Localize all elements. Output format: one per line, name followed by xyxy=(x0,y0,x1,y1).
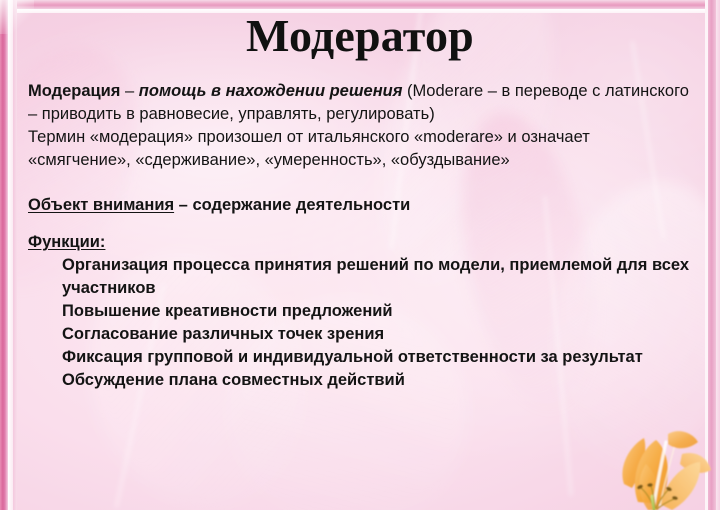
slide-border-left xyxy=(0,0,8,510)
heading-functions-label: Функции: xyxy=(28,233,105,251)
definition-paragraph: Модерация – помощь в нахождении решения … xyxy=(28,80,694,126)
slide-border-left-inner xyxy=(13,0,17,510)
slide-title: Модератор xyxy=(0,12,720,60)
list-item: Повышение креативности предложений xyxy=(62,300,694,323)
definition-gloss: помощь в нахождении решения xyxy=(139,82,403,100)
spacer xyxy=(28,217,694,231)
definition-term: Модерация xyxy=(28,82,120,100)
presentation-slide: Модератор Модерация – помощь в нахождени… xyxy=(0,0,720,510)
slide-border-right xyxy=(708,0,716,510)
list-item: Обсуждение плана совместных действий xyxy=(62,369,694,392)
list-item: Фиксация групповой и индивидуальной отве… xyxy=(62,346,694,369)
etymology-paragraph: Термин «модерация» произошел от итальянс… xyxy=(28,126,694,172)
list-item: Согласование различных точек зрения xyxy=(62,323,694,346)
slide-body: Модерация – помощь в нахождении решения … xyxy=(28,80,694,392)
heading-object-of-attention: Объект внимания – содержание деятельност… xyxy=(28,194,694,217)
heading-functions: Функции: xyxy=(28,231,694,254)
definition-dash: – xyxy=(120,82,138,100)
list-item: Организация процесса принятия решений по… xyxy=(62,254,694,300)
spacer xyxy=(28,172,694,194)
slide-border-right-outer xyxy=(716,0,720,510)
heading-object-underlined: Объект внимания xyxy=(28,196,174,214)
heading-object-rest: – содержание деятельности xyxy=(174,196,410,214)
functions-list: Организация процесса принятия решений по… xyxy=(28,254,694,392)
slide-border-top xyxy=(0,0,720,9)
